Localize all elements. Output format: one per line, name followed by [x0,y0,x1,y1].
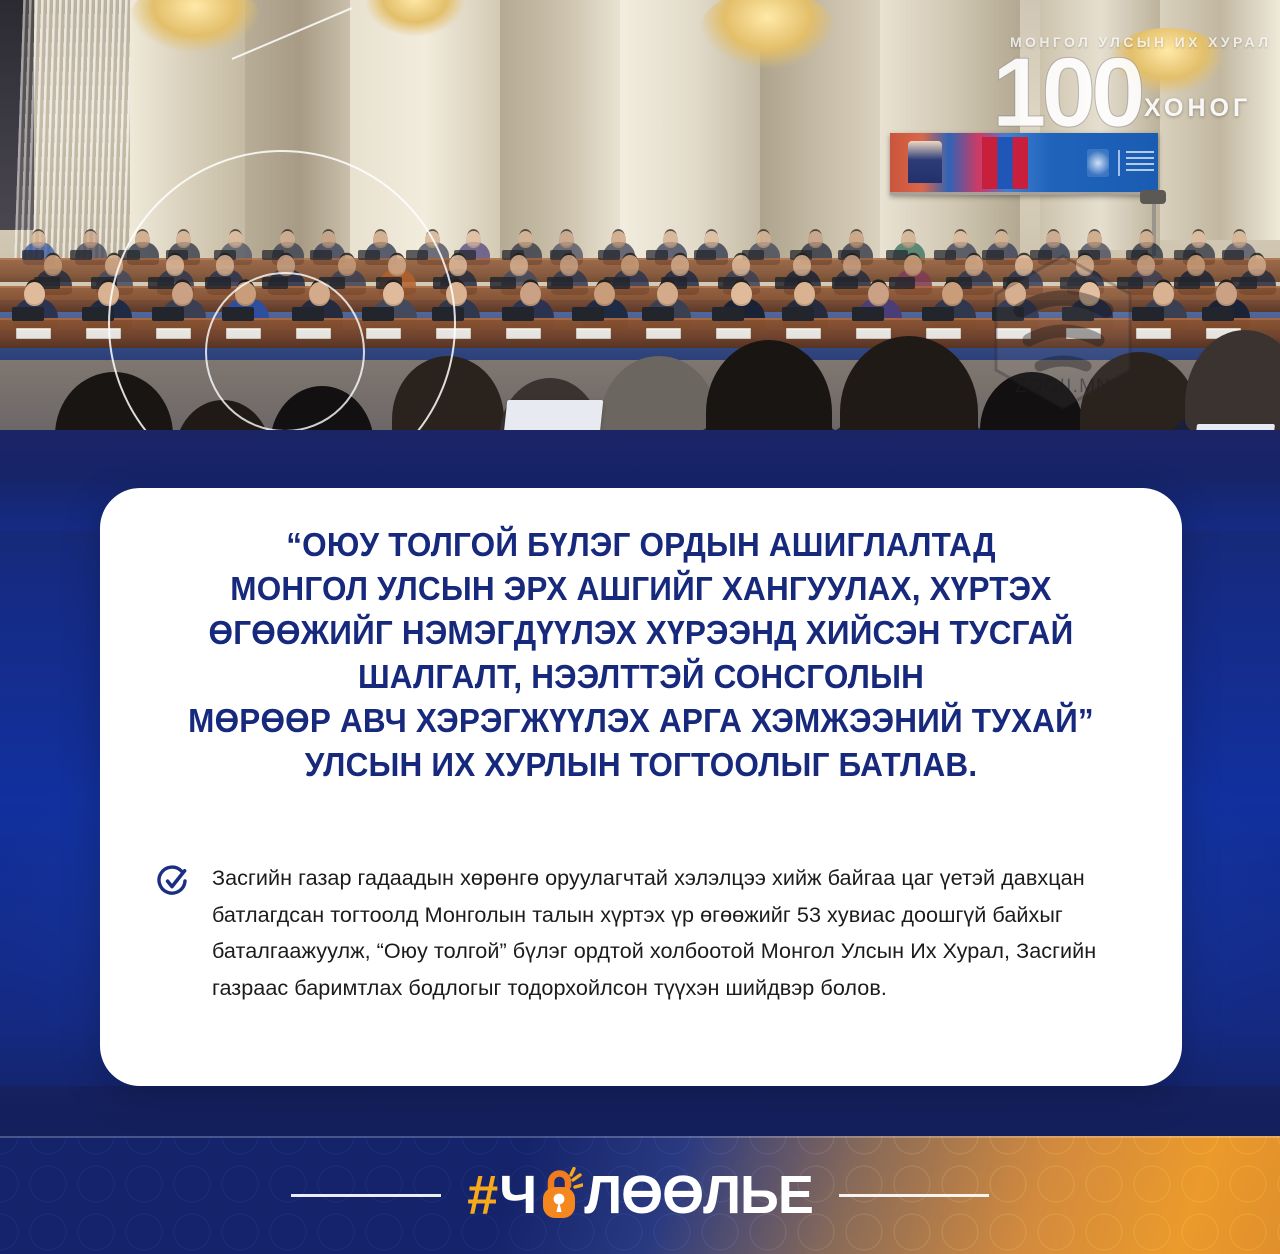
summary-text: Засгийн газар гадаадын хөрөнгө оруулагчт… [212,860,1136,1006]
delegate-head [901,231,916,248]
desk-monitor [362,307,394,321]
delegate-head [732,255,749,275]
footer-band: # Ч ЛӨӨЛЬЕ [0,1136,1280,1254]
delegate-head [1153,282,1174,306]
footer-content: # Ч ЛӨӨЛЬЕ [0,1136,1280,1254]
desk-monitor [205,277,231,289]
summary-block: Засгийн газар гадаадын хөрөнгө оруулагчт… [156,860,1136,1006]
delegate-head [621,255,638,275]
divider-line-left [291,1194,441,1197]
delegate-head [849,231,864,248]
delegate-head [446,282,467,306]
led-display [890,133,1158,195]
content-card: “ОЮУ ТОЛГОЙ БҮЛЭГ ОРДЫН АШИГЛАЛТАД МОНГО… [100,488,1182,1086]
delegate-head [1005,282,1026,306]
desk-monitor [889,277,915,289]
desk-monitor [82,307,114,321]
delegate-head [383,282,404,306]
desk-monitor [922,307,954,321]
open-padlock-icon [537,1167,583,1223]
delegate-head [98,282,119,306]
headline-line: МӨРӨӨР АВЧ ХЭРЭГЖҮҮЛЭХ АРГА ХЭМЖЭЭНИЙ ТУ… [170,700,1112,744]
delegate-head [277,255,294,275]
delegate-head [559,231,574,248]
delegate-head [965,255,982,275]
delegate-head [176,231,191,248]
desk-monitor [1222,250,1244,260]
delegate-head [135,231,150,248]
desk-monitor [70,250,92,260]
delegate-head [994,231,1009,248]
led-emblem [1087,149,1109,177]
desk-monitor [310,250,332,260]
delegate-head [594,282,615,306]
desk-monitor [148,277,174,289]
desk-monitor [782,307,814,321]
headline-line: МОНГОЛ УЛСЫН ЭРХ АШГИЙГ ХАНГУУЛАХ, ХҮРТЭ… [170,568,1112,612]
delegate-head [31,231,46,248]
delegate-head [942,282,963,306]
led-speaker-image [908,141,942,183]
delegate-head [235,282,256,306]
desk-monitor [292,307,324,321]
delegate-head [793,255,810,275]
delegate-head [216,255,233,275]
desk-monitor [852,307,884,321]
desk-monitor [547,277,573,289]
desk-monitor [1132,307,1164,321]
hash-symbol: # [467,1167,497,1223]
campaign-hashtag: # Ч ЛӨӨЛЬЕ [467,1167,813,1223]
delegate-head [1087,231,1102,248]
delegate-head [704,231,719,248]
page-title: “ОЮУ ТОЛГОЙ БҮЛЭГ ОРДЫН АШИГЛАЛТАД МОНГО… [170,524,1112,788]
desk-monitor [222,307,254,321]
delegate-head [657,282,678,306]
poster-root: МОНГОЛ УЛСЫН ИХ ХУРАЛ 100 ХОНОГ ZOGII.MN… [0,0,1280,1254]
delegate-head [731,282,752,306]
delegate-head [1015,255,1032,275]
desk-monitor [358,250,380,260]
delegate-head [868,282,889,306]
desk-monitor [406,250,428,260]
delegate-head [321,231,336,248]
delegate-head [1216,282,1237,306]
headline-line: “ОЮУ ТОЛГОЙ БҮЛЭГ ОРДЫН АШИГЛАЛТАД [170,524,1112,568]
delegate-head [904,255,921,275]
delegate-head [1139,231,1154,248]
delegate-head [1248,255,1265,275]
desk-monitor [262,277,288,289]
desk-monitor [982,250,1004,260]
desk-monitor [22,250,44,260]
circle-check-icon [156,864,190,898]
desk-monitor [12,307,44,321]
desk-monitor [1202,307,1234,321]
desk-monitor [992,307,1024,321]
delegate-head [1046,231,1061,248]
desk-monitor [152,307,184,321]
delegate-head [1187,255,1204,275]
delegate-head [388,255,405,275]
delegate-head [671,255,688,275]
desk-monitor [1062,307,1094,321]
desk-monitor [1174,277,1200,289]
delegate-head [794,282,815,306]
delegate-head [105,255,122,275]
delegate-head [518,231,533,248]
desk-monitor [502,307,534,321]
delegate-head [1232,231,1247,248]
delegate-head [309,282,330,306]
desk-monitor [1117,277,1143,289]
delegate-head [1076,255,1093,275]
delegate-head [24,282,45,306]
delegate-head [1079,282,1100,306]
delegate-head [1191,231,1206,248]
delegate-head [83,231,98,248]
divider-line-right [839,1194,989,1197]
delegate-head [166,255,183,275]
delegate-head [280,231,295,248]
delegate-head [373,231,388,248]
hashtag-part-2: ЛӨӨЛЬЕ [584,1168,813,1222]
delegate-head [611,231,626,248]
delegate-head [1137,255,1154,275]
delegate-head [663,231,678,248]
desk-monitor [642,307,674,321]
desk-monitor [832,277,858,289]
led-divider [1118,150,1120,176]
footer-spacer [0,1086,1280,1136]
delegate-head [808,231,823,248]
delegate-head [466,231,481,248]
desk-monitor [712,307,744,321]
delegate-head [843,255,860,275]
delegate-head [560,255,577,275]
chandelier [1110,28,1225,94]
headline-line: ӨГӨӨЖИЙГ НЭМЭГДҮҮЛЭХ ХҮРЭЭНД ХИЙСЭН ТУСГ… [170,612,1112,656]
desk-monitor [598,250,620,260]
delegate-head [172,282,193,306]
delegate-head [953,231,968,248]
led-flag-image [982,137,1028,189]
desk-monitor [432,307,464,321]
led-text [1126,151,1154,173]
desk-monitor [646,250,668,260]
delegate-head [425,231,440,248]
delegate-head [449,255,466,275]
desk-monitor [1030,250,1052,260]
desk-monitor [572,307,604,321]
delegate-head [338,255,355,275]
delegate-head [756,231,771,248]
desk-monitor [934,250,956,260]
desk-monitor [490,277,516,289]
headline-line: УЛСЫН ИХ ХУРЛЫН ТОГТООЛЫГ БАТЛАВ. [170,744,1112,788]
hashtag-part-1: Ч [499,1168,536,1222]
delegate-head [44,255,61,275]
delegate-head [228,231,243,248]
camera-icon [1140,190,1166,204]
delegate-head [520,282,541,306]
headline-line: ШАЛГАЛТ, НЭЭЛТТЭЙ СОНСГОЛЫН [170,656,1112,700]
delegate-head [510,255,527,275]
desk-monitor [694,250,716,260]
